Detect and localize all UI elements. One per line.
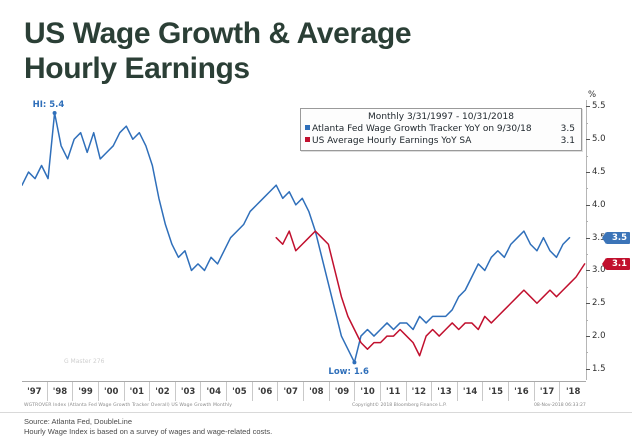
y-tick-4-0: 4.0 (586, 201, 630, 211)
legend-label-average-hourly-earnings: US Average Hourly Earnings YoY SA (312, 136, 471, 146)
x-tick-06: '06 (253, 382, 279, 401)
timestamp-text: 08-Nov-2018 06:33:27 (534, 403, 586, 408)
legend-header: Monthly 3/31/1997 - 10/31/2018 (305, 111, 577, 123)
x-tick-13: '13 (432, 382, 458, 401)
x-tick-label: '05 (227, 387, 252, 397)
x-tick-label: '10 (355, 387, 380, 397)
source-block: Source: Atlanta Fed, DoubleLine Hourly W… (24, 417, 272, 437)
x-tick-12: '12 (407, 382, 433, 401)
y-tick-2-0: 2.0 (586, 332, 630, 342)
x-tick-label: '99 (73, 387, 98, 397)
legend-swatch-red (305, 137, 310, 142)
y-tick-label: 4.5 (592, 167, 606, 177)
x-tick-label: '17 (535, 387, 560, 397)
annotation-low: Low: 1.6 (328, 367, 369, 377)
x-tick-14: '14 (458, 382, 484, 401)
ticker-description: WGTROVER Index (Atlanta Fed Wage Growth … (24, 403, 232, 408)
annotation-high: HI: 5.4 (33, 100, 65, 110)
x-tick-label: '08 (304, 387, 329, 397)
y-minor-tick (586, 254, 588, 255)
x-tick-00: '00 (99, 382, 125, 401)
y-tick-label: 1.5 (592, 364, 606, 374)
footer-divider (0, 412, 632, 413)
y-tick-5-5: 5.5 (586, 102, 630, 112)
x-tick-label: '06 (253, 387, 278, 397)
y-minor-tick (586, 188, 588, 189)
legend-row-wage-growth-tracker[interactable]: Atlanta Fed Wage Growth Tracker YoY on 9… (305, 123, 577, 135)
y-tick-4-5: 4.5 (586, 168, 630, 178)
x-tick-07: '07 (278, 382, 304, 401)
x-tick-17: '17 (535, 382, 561, 401)
x-tick-18: '18 (560, 382, 586, 401)
x-tick-02: '02 (150, 382, 176, 401)
page-title: US Wage Growth & Average Hourly Earnings (24, 16, 494, 86)
y-tick-label: 2.5 (592, 298, 606, 308)
x-tick-15: '15 (483, 382, 509, 401)
x-tick-05: '05 (227, 382, 253, 401)
legend-row-average-hourly-earnings[interactable]: US Average Hourly Earnings YoY SA 3.1 (305, 135, 577, 147)
legend-value-average-hourly-earnings: 3.1 (561, 135, 575, 147)
y-minor-tick (586, 123, 588, 124)
source-line: Source: Atlanta Fed, DoubleLine (24, 417, 272, 427)
copyright-text: Copyright© 2018 Bloomberg Finance L.P. (352, 403, 447, 408)
high-marker-dot (53, 111, 57, 115)
x-tick-09: '09 (330, 382, 356, 401)
x-tick-label: '04 (201, 387, 226, 397)
low-marker-dot (352, 360, 356, 364)
y-tick-label: 2.0 (592, 331, 606, 341)
y-tick-label: 4.0 (592, 200, 606, 210)
chart-page: US Wage Growth & Average Hourly Earnings… (0, 0, 632, 440)
legend-label-wage-growth-tracker: Atlanta Fed Wage Growth Tracker YoY on 9… (312, 124, 532, 134)
y-minor-tick (586, 221, 588, 222)
x-tick-99: '99 (73, 382, 99, 401)
source-note: Hourly Wage Index is based on a survey o… (24, 427, 272, 437)
x-tick-label: '02 (150, 387, 175, 397)
series-line-average-hourly-earnings (276, 231, 584, 356)
x-tick-label: '18 (560, 387, 586, 397)
watermark-label: G Master 276 (64, 358, 104, 365)
x-tick-label: '12 (407, 387, 432, 397)
y-tick-2-5: 2.5 (586, 299, 630, 309)
chart-legend[interactable]: Monthly 3/31/1997 - 10/31/2018 Atlanta F… (300, 108, 582, 151)
legend-value-wage-growth-tracker: 3.5 (561, 123, 575, 135)
x-tick-97: '97 (22, 382, 48, 401)
y-minor-tick (586, 287, 588, 288)
x-tick-16: '16 (509, 382, 535, 401)
x-tick-label: '09 (330, 387, 355, 397)
x-tick-label: '97 (22, 387, 47, 397)
x-tick-04: '04 (201, 382, 227, 401)
x-tick-08: '08 (304, 382, 330, 401)
y-tick-5-0: 5.0 (586, 135, 630, 145)
x-tick-03: '03 (176, 382, 202, 401)
x-tick-10: '10 (355, 382, 381, 401)
x-tick-label: '14 (458, 387, 483, 397)
x-tick-98: '98 (48, 382, 74, 401)
y-minor-tick (586, 320, 588, 321)
legend-swatch-blue (305, 125, 310, 130)
x-tick-label: '01 (125, 387, 150, 397)
x-tick-label: '03 (176, 387, 201, 397)
y-minor-tick (586, 156, 588, 157)
x-tick-label: '07 (278, 387, 303, 397)
y-tick-1-5: 1.5 (586, 365, 630, 375)
y-minor-tick (586, 352, 588, 353)
value-flag-3-1: 3.1 (606, 258, 630, 270)
x-tick-01: '01 (125, 382, 151, 401)
x-tick-label: '00 (99, 387, 124, 397)
y-tick-label: 5.5 (592, 101, 606, 111)
value-flag-3-5: 3.5 (606, 232, 630, 244)
x-axis: '97'98'99'00'01'02'03'04'05'06'07'08'09'… (22, 381, 586, 402)
x-tick-label: '98 (48, 387, 73, 397)
y-tick-label: 5.0 (592, 134, 606, 144)
x-tick-label: '15 (483, 387, 508, 397)
x-tick-label: '11 (381, 387, 406, 397)
x-tick-label: '13 (432, 387, 457, 397)
x-tick-label: '16 (509, 387, 534, 397)
x-tick-11: '11 (381, 382, 407, 401)
